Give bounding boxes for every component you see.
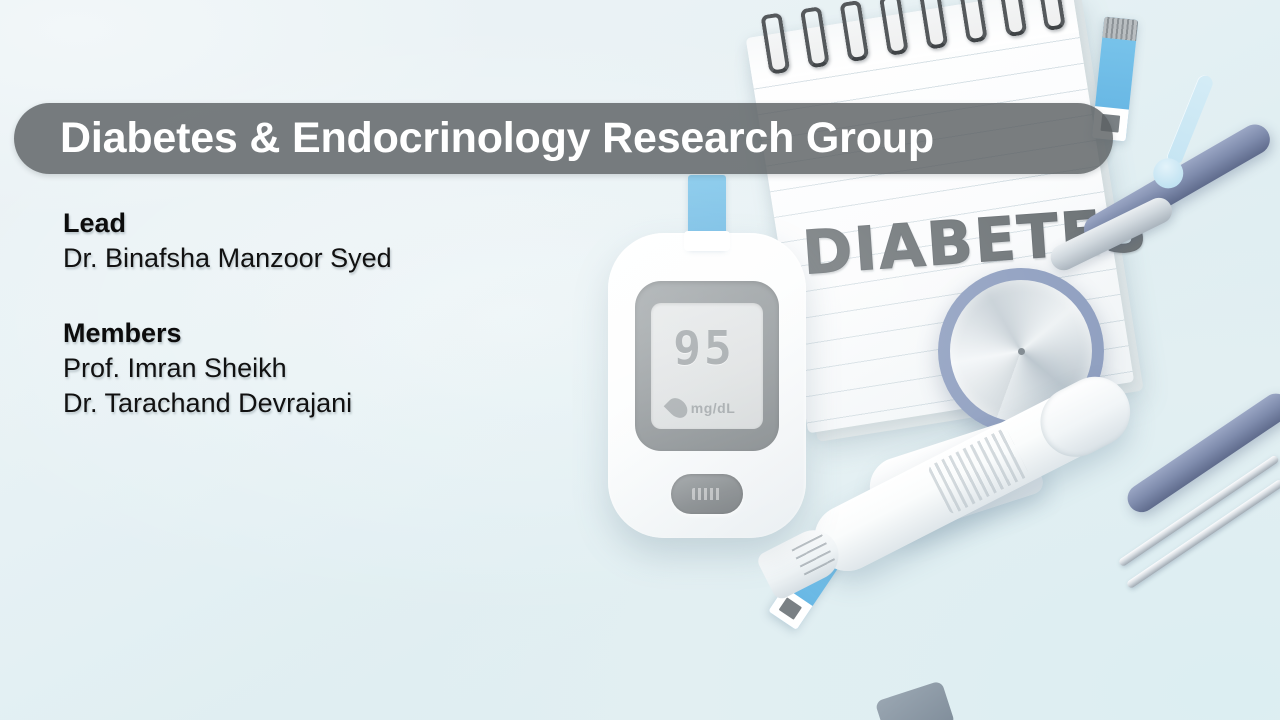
member-name: Prof. Imran Sheikh (63, 351, 583, 387)
title-banner: Diabetes & Endocrinology Research Group (14, 103, 1113, 174)
members-heading: Members (63, 316, 583, 351)
glucose-meter: 95 mg/dL (608, 233, 806, 538)
lead-heading: Lead (63, 206, 583, 241)
glucose-meter-bezel: 95 mg/dL (635, 281, 779, 451)
glucose-reading-unit: mg/dL (651, 400, 759, 416)
slide-root: DIABETES (0, 0, 1280, 720)
glucose-meter-power-button[interactable] (671, 474, 743, 514)
page-title: Diabetes & Endocrinology Research Group (14, 117, 934, 160)
glucose-meter-test-strip (688, 175, 726, 249)
member-name: Dr. Tarachand Devrajani (63, 386, 583, 422)
dark-accessory (875, 680, 956, 720)
section-spacer (63, 277, 583, 316)
roster-text-block: Lead Dr. Binafsha Manzoor Syed Members P… (63, 206, 583, 422)
glucose-meter-lcd: 95 mg/dL (651, 303, 763, 429)
glucose-reading-value: 95 (651, 321, 757, 375)
lead-name: Dr. Binafsha Manzoor Syed (63, 241, 583, 277)
